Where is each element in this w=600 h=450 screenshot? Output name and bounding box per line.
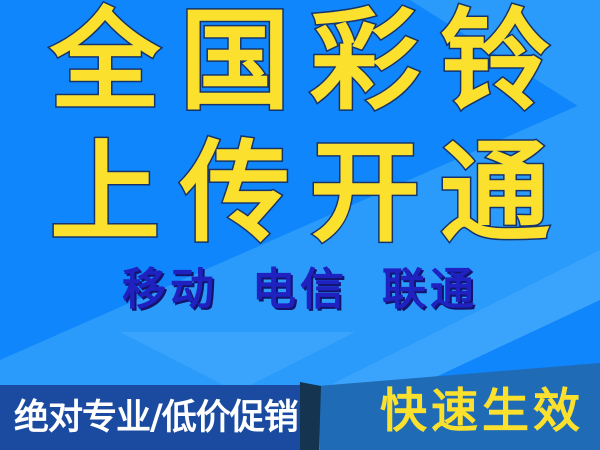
banner-left-label: 绝对专业/低价促销 [14,401,298,436]
bottom-banner: 绝对专业/低价促销 快速生效 [0,355,600,450]
banner-right-label: 快速生效 [380,388,584,435]
promo-poster: 全 国 彩 铃 上 传 开 通 移动 电信 联通 绝对专业/低价促销 快速生效 [0,0,600,450]
